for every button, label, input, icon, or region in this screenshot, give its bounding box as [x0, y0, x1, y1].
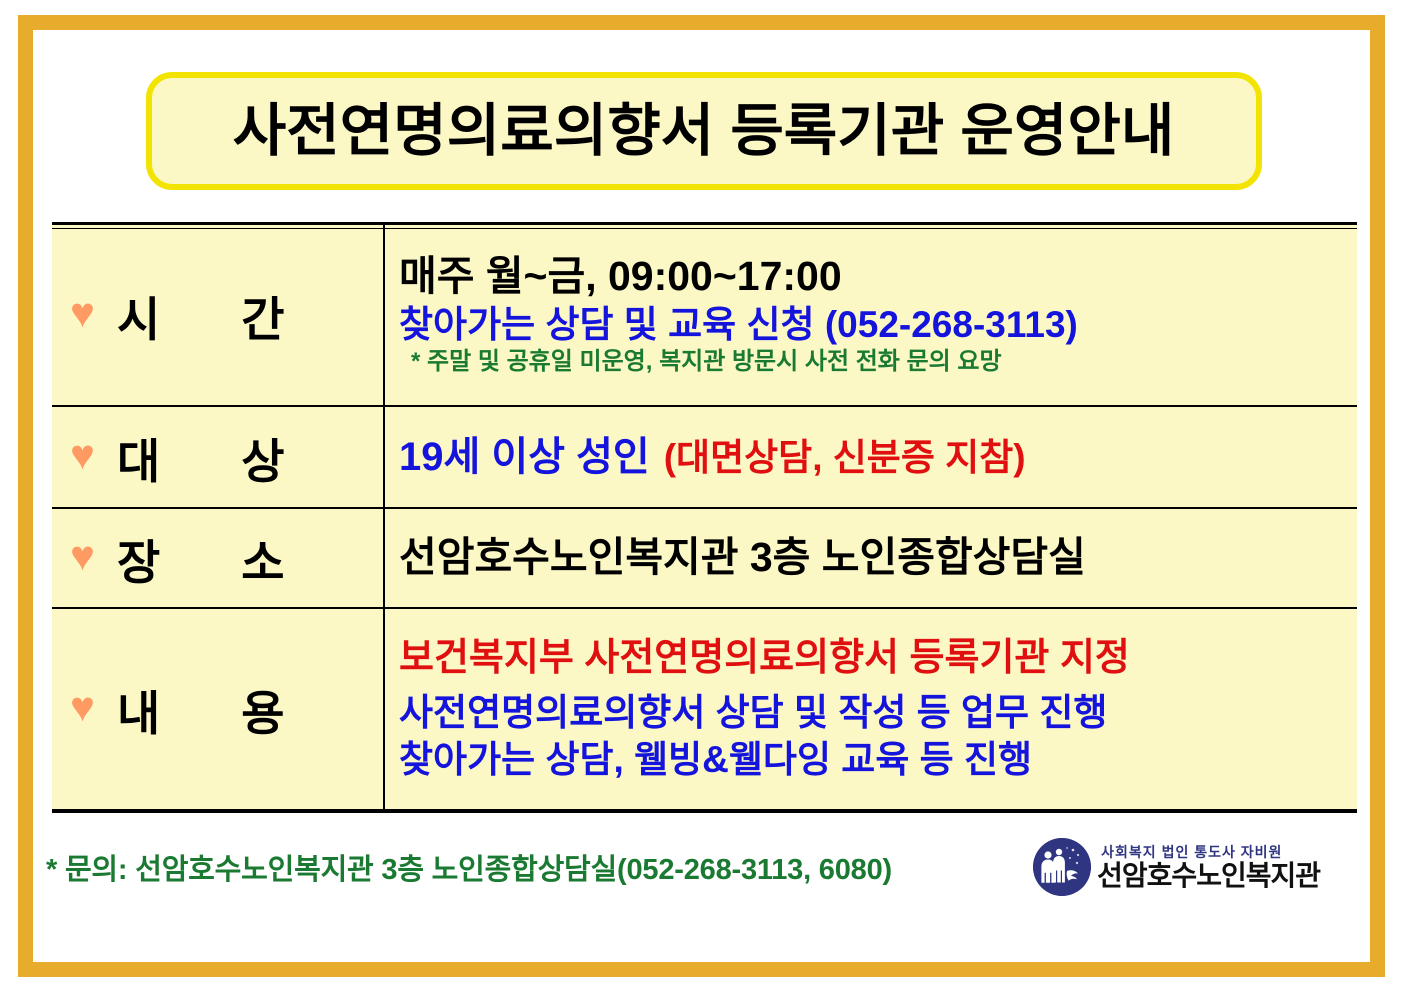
table-bottom-double-rule	[52, 812, 1357, 813]
time-outreach-phone-text: 찾아가는 상담 및 교육 신청 (052-268-3113)	[399, 304, 1357, 345]
time-schedule-text: 매주 월~금, 09:00~17:00	[399, 254, 1357, 300]
table-row: ♥ 내 용 보건복지부 사전연명의료의향서 등록기관 지정 사전연명의료의향서 …	[52, 609, 1357, 809]
poster-title-box: 사전연명의료의향서 등록기관 운영안내	[146, 72, 1262, 190]
logo-title: 선암호수노인복지관	[1097, 862, 1320, 890]
row-label-place: 장 소	[115, 524, 319, 593]
target-line: 19세 이상 성인 (대면상담, 신분증 지참)	[399, 435, 1357, 480]
logo-text-block: 사회복지 법인 통도사 자비원 선암호수노인복지관	[1097, 845, 1320, 890]
table-row: ♥ 시 간 매주 월~금, 09:00~17:00 찾아가는 상담 및 교육 신…	[52, 225, 1357, 407]
place-location-text: 선암호수노인복지관 3층 노인종합상담실	[399, 535, 1357, 581]
poster-root: 사전연명의료의향서 등록기관 운영안내 ♥ 시 간 매주 월~금, 09:00~…	[0, 0, 1403, 992]
table-top-double-rule	[52, 228, 1357, 229]
table-row: ♥ 장 소 선암호수노인복지관 3층 노인종합상담실	[52, 509, 1357, 609]
row-label-cell-time: ♥ 시 간	[52, 225, 385, 405]
row-value-cell-target: 19세 이상 성인 (대면상담, 신분증 지참)	[385, 407, 1357, 507]
row-label-time: 시 간	[115, 281, 319, 350]
heart-icon: ♥	[70, 292, 95, 334]
detail-education-text: 찾아가는 상담, 웰빙&웰다잉 교육 등 진행	[399, 739, 1357, 780]
detail-designation-text: 보건복지부 사전연명의료의향서 등록기관 지정	[399, 637, 1357, 680]
welfare-center-logo-icon	[1033, 838, 1091, 896]
row-value-cell-place: 선암호수노인복지관 3층 노인종합상담실	[385, 509, 1357, 607]
heart-icon: ♥	[70, 686, 95, 728]
page-title: 사전연명의료의향서 등록기관 운영안내	[233, 103, 1175, 160]
row-label-cell-place: ♥ 장 소	[52, 509, 385, 607]
logo-subtitle: 사회복지 법인 통도사 자비원	[1101, 845, 1320, 859]
row-label-target: 대 상	[115, 423, 319, 492]
organization-logo: 사회복지 법인 통도사 자비원 선암호수노인복지관	[1033, 838, 1320, 896]
row-label-detail: 내 용	[115, 675, 319, 744]
heart-icon: ♥	[70, 434, 95, 476]
row-value-cell-detail: 보건복지부 사전연명의료의향서 등록기관 지정 사전연명의료의향서 상담 및 작…	[385, 609, 1357, 809]
table-row: ♥ 대 상 19세 이상 성인 (대면상담, 신분증 지참)	[52, 407, 1357, 509]
heart-icon: ♥	[70, 535, 95, 577]
row-label-cell-detail: ♥ 내 용	[52, 609, 385, 809]
time-note-text: * 주말 및 공휴일 미운영, 복지관 방문시 사전 전화 문의 요망	[399, 349, 1357, 376]
row-value-cell-time: 매주 월~금, 09:00~17:00 찾아가는 상담 및 교육 신청 (052…	[385, 225, 1357, 405]
detail-service-text: 사전연명의료의향서 상담 및 작성 등 업무 진행	[399, 692, 1357, 733]
target-age-text: 19세 이상 성인	[399, 435, 650, 480]
info-table: ♥ 시 간 매주 월~금, 09:00~17:00 찾아가는 상담 및 교육 신…	[52, 222, 1357, 812]
row-label-cell-target: ♥ 대 상	[52, 407, 385, 507]
footer: * 문의: 선암호수노인복지관 3층 노인종합상담실(052-268-3113,…	[46, 838, 1356, 896]
target-condition-text: (대면상담, 신분증 지참)	[664, 437, 1026, 478]
footer-contact-text: * 문의: 선암호수노인복지관 3층 노인종합상담실(052-268-3113,…	[46, 846, 892, 888]
